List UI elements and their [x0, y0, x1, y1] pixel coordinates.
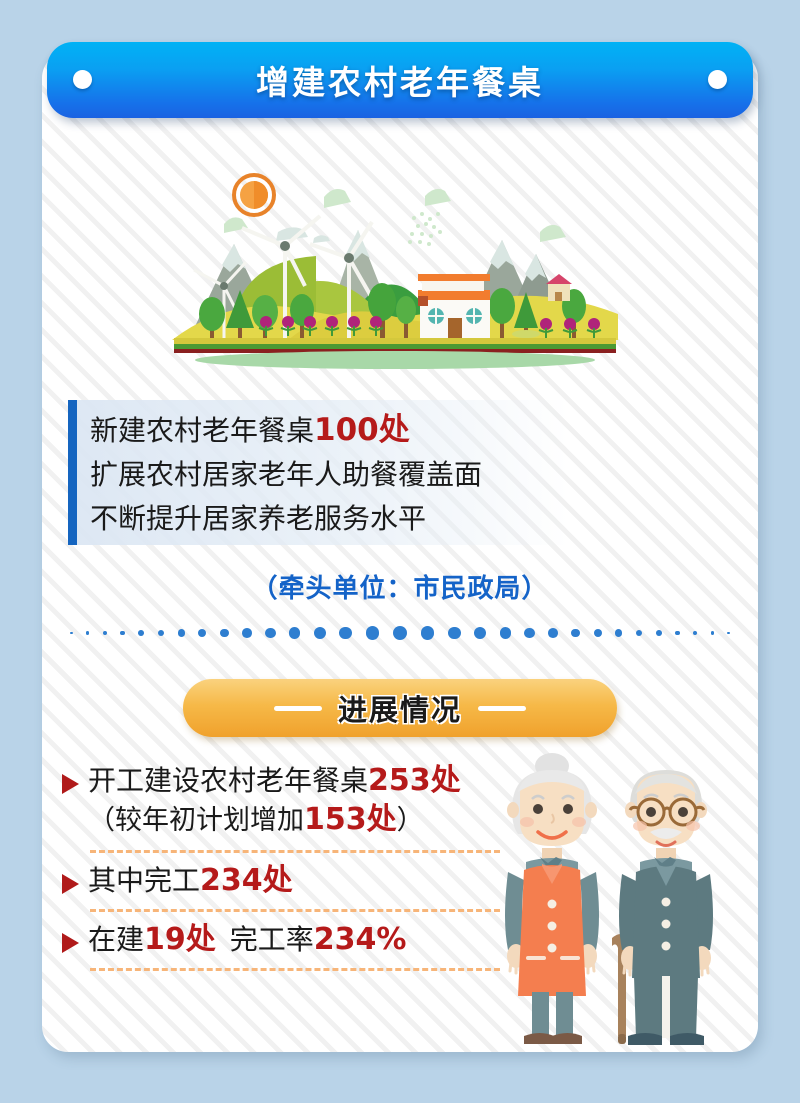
divider-dot [198, 629, 206, 637]
progress-item-2: 其中完工234处 [62, 862, 532, 900]
divider-dot [138, 630, 144, 636]
banner-dash-left-icon [274, 706, 322, 711]
progress-item-1-prefix: 开工建设农村老年餐桌 [88, 764, 368, 797]
lead-unit-label: （牵头单位：市民政局） [0, 568, 800, 605]
title-banner: 增建农村老年餐桌 [47, 42, 753, 118]
progress-item-3-text: 在建19处完工率234% [88, 921, 406, 959]
progress-item-2-prefix: 其中完工 [88, 864, 200, 897]
divider-dot [265, 628, 276, 639]
divider-dot [727, 632, 730, 635]
progress-item-3-prefix: 在建 [88, 923, 144, 956]
progress-item-1-sub-prefix: （较年初计划增加 [88, 805, 304, 836]
elderly-couple-illustration [494, 752, 726, 1048]
progress-divider-2 [90, 909, 500, 912]
progress-item-1: 开工建设农村老年餐桌253处 [62, 762, 532, 800]
highlight-accent-bar [68, 400, 77, 545]
divider-dot [339, 627, 352, 640]
triangle-right-icon [62, 874, 79, 894]
page-title: 增建农村老年餐桌 [256, 56, 544, 104]
progress-item-1-text: 开工建设农村老年餐桌253处 [88, 762, 461, 800]
dotted-divider [70, 622, 730, 644]
divider-dot [70, 632, 73, 635]
progress-divider-1 [90, 850, 500, 853]
divider-dot [656, 630, 662, 636]
divider-dot [242, 628, 252, 638]
divider-dot [675, 631, 680, 636]
triangle-right-icon [62, 774, 79, 794]
divider-dot [120, 631, 125, 636]
divider-dot [571, 629, 580, 638]
divider-dot [393, 626, 408, 641]
progress-item-3: 在建19处完工率234% [62, 921, 532, 959]
progress-item-1-sub-suffix: ） [397, 805, 424, 836]
progress-item-3-prefix-2: 完工率 [230, 923, 314, 956]
divider-dot [693, 631, 697, 635]
divider-dot [500, 627, 511, 638]
elderly-woman [505, 753, 599, 1044]
divider-dot [314, 627, 326, 639]
divider-dot [86, 631, 89, 634]
progress-item-2-text: 其中完工234处 [88, 862, 293, 900]
divider-dot [711, 631, 714, 634]
divider-dot [103, 631, 107, 635]
banner-dash-right-icon [478, 706, 526, 711]
highlight-line-3: 不断提升居家养老服务水平 [90, 497, 568, 541]
divider-dot [421, 626, 435, 640]
divider-dot [636, 630, 643, 637]
divider-dot [178, 629, 185, 636]
highlight-line-2: 扩展农村居家老年人助餐覆盖面 [90, 453, 568, 497]
progress-section-banner: 进展情况 [183, 679, 617, 737]
infographic-page: 增建农村老年餐桌 [0, 0, 800, 1103]
progress-item-1-number: 253处 [368, 763, 461, 798]
highlight-line-1-prefix: 新建农村老年餐桌 [90, 414, 314, 447]
banner-right-dot-icon [708, 70, 727, 89]
divider-dot [289, 627, 300, 638]
progress-list: 开工建设农村老年餐桌253处 （较年初计划增加153处） 其中完工234处 在建… [62, 762, 532, 980]
divider-dot [158, 630, 165, 637]
highlight-line-1: 新建农村老年餐桌100处 [90, 408, 568, 453]
triangle-right-icon [62, 933, 79, 953]
divider-dot [448, 627, 461, 640]
divider-dot [366, 626, 380, 640]
elderly-man [619, 770, 713, 1045]
progress-item-3-number: 19处 [144, 922, 216, 957]
divider-dot [548, 628, 558, 638]
highlight-line-1-number: 100处 [314, 412, 410, 448]
highlight-text-block: 新建农村老年餐桌100处 扩展农村居家老年人助餐覆盖面 不断提升居家养老服务水平 [68, 400, 568, 545]
divider-dot [615, 629, 622, 636]
divider-dot [474, 627, 486, 639]
rural-landscape-illustration [172, 162, 618, 374]
progress-item-1-sub-number: 153处 [304, 802, 397, 837]
banner-left-dot-icon [73, 70, 92, 89]
divider-dot [594, 629, 602, 637]
progress-item-2-number: 234处 [200, 863, 293, 898]
progress-divider-3 [90, 968, 500, 971]
progress-section-title: 进展情况 [338, 687, 462, 729]
divider-dot [220, 629, 229, 638]
progress-item-3-number-2: 234% [314, 922, 407, 957]
progress-item-1-subtext: （较年初计划增加153处） [62, 800, 532, 841]
divider-dot [524, 628, 535, 639]
